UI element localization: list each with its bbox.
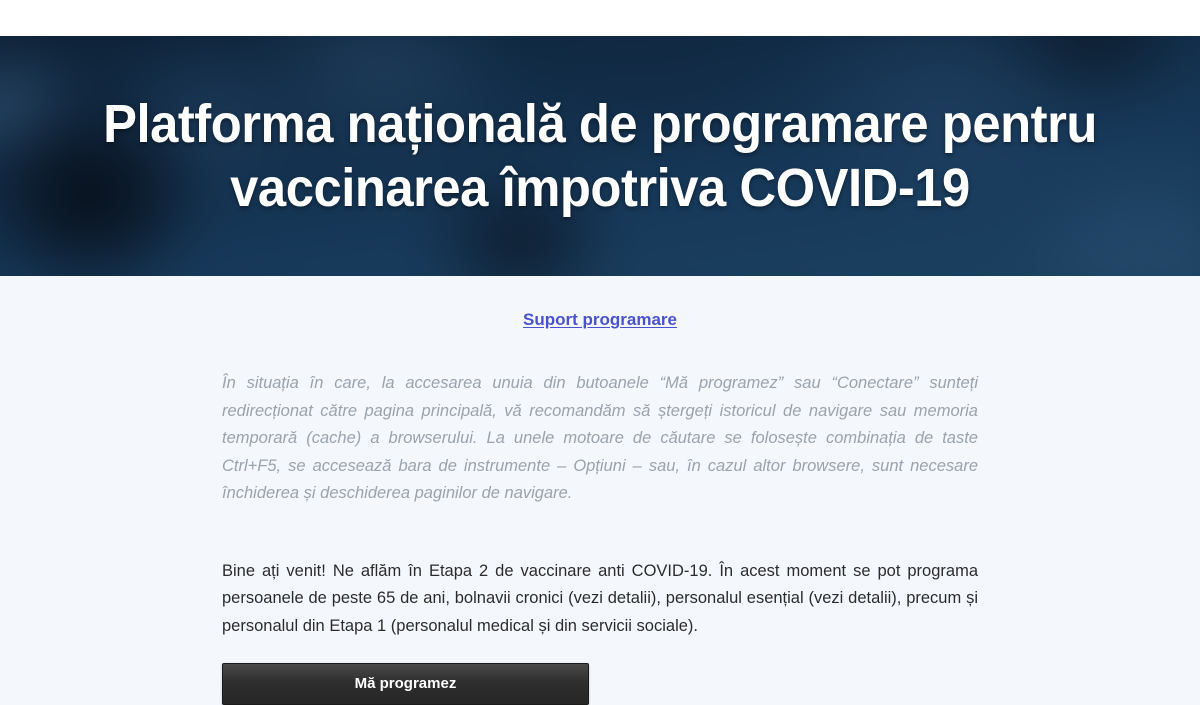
welcome-intro-text: Bine ați venit! Ne aflăm în Etapa 2 de v… xyxy=(222,558,978,641)
support-link-row: Suport programare xyxy=(222,310,978,330)
page-title: Platforma națională de programare pentru… xyxy=(78,92,1121,220)
cache-notice-text: În situația în care, la accesarea unuia … xyxy=(222,370,978,508)
browser-top-strip xyxy=(0,0,1200,36)
hero-banner: Platforma națională de programare pentru… xyxy=(0,36,1200,276)
page-body: Suport programare În situația în care, l… xyxy=(0,276,1200,664)
ma-programez-button[interactable]: Mă programez xyxy=(222,663,589,705)
cta-row: Mă programez xyxy=(222,663,978,705)
support-programare-link[interactable]: Suport programare xyxy=(523,310,677,330)
hero-content: Platforma națională de programare pentru… xyxy=(0,36,1200,276)
content-container: Suport programare În situația în care, l… xyxy=(222,276,978,705)
